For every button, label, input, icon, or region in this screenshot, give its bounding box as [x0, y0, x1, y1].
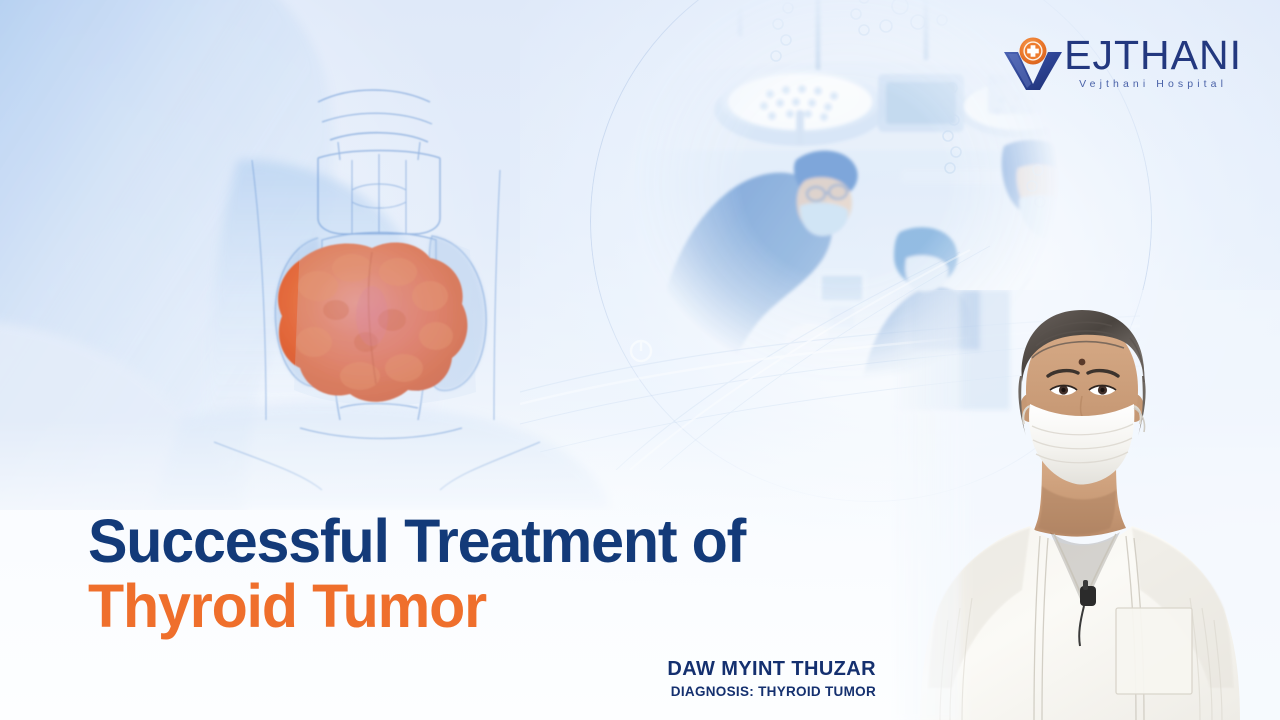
power-symbol-icon: [628, 338, 654, 364]
v-shield-with-medical-cross-icon: [1000, 36, 1066, 92]
logo-word: EJTHANI: [1064, 36, 1242, 75]
headline-line-1: Successful Treatment of: [88, 512, 883, 571]
logo-wordmark: EJTHANI Vejthani Hospital: [1064, 36, 1242, 92]
patient-name: DAW MYINT THUZAR: [88, 658, 876, 680]
diagnosis-label: DIAGNOSIS: THYROID TUMOR: [88, 684, 876, 699]
logo-tagline: Vejthani Hospital: [1064, 78, 1242, 90]
headline-line-2: Thyroid Tumor: [88, 577, 883, 636]
patient-credit-block: DAW MYINT THUZAR DIAGNOSIS: THYROID TUMO…: [88, 658, 876, 699]
headline-block: Successful Treatment of Thyroid Tumor DA…: [88, 512, 908, 635]
patient-portrait: [890, 290, 1280, 720]
video-thumbnail: EJTHANI Vejthani Hospital Successful Tre…: [0, 0, 1280, 720]
vejthani-logo[interactable]: EJTHANI Vejthani Hospital: [1000, 36, 1242, 92]
